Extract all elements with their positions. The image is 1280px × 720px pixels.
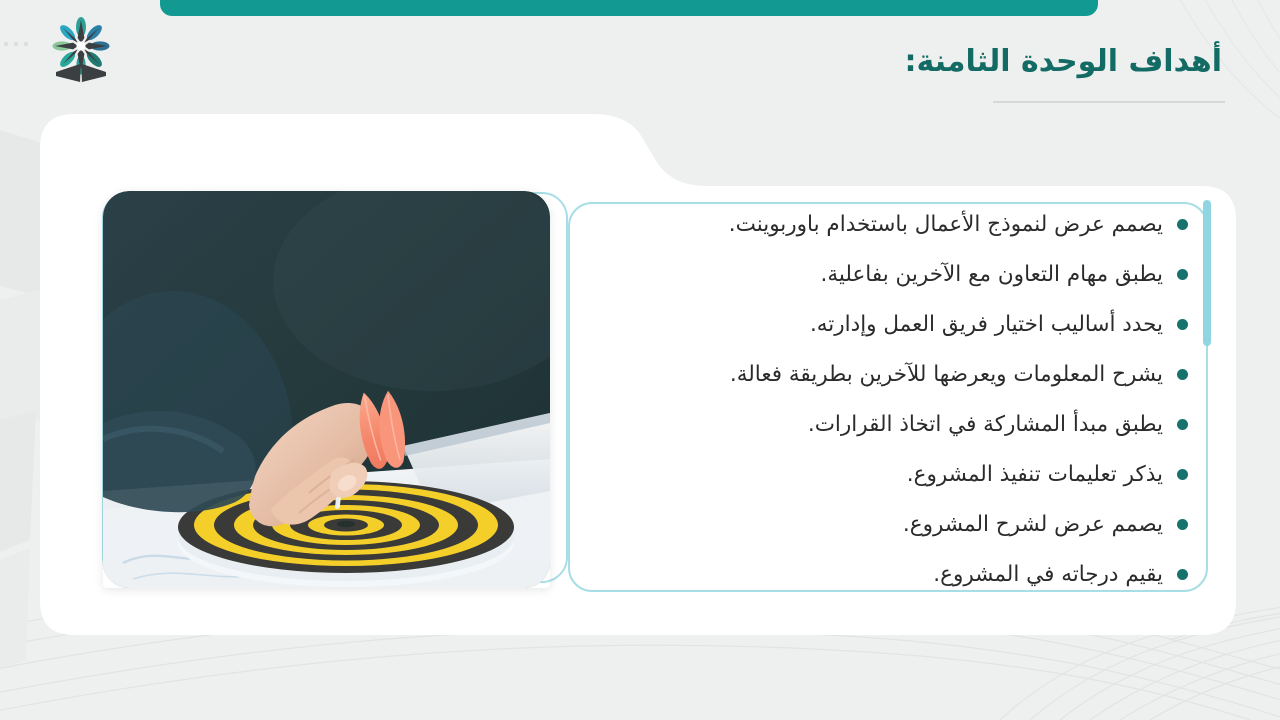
bullet-dot-icon xyxy=(1177,369,1188,380)
objective-text: يطبق مبدأ المشاركة في اتخاذ القرارات. xyxy=(808,409,1163,440)
tvtc-logo xyxy=(44,16,118,88)
list-item: يصمم عرض لشرح المشروع. xyxy=(588,508,1188,541)
list-item: يقيم درجاته في المشروع. xyxy=(588,558,1188,591)
title-divider xyxy=(993,101,1225,103)
accent-vertical-line xyxy=(1203,200,1211,346)
dartboard-photo xyxy=(103,191,550,588)
list-item: يشرح المعلومات ويعرضها للآخرين بطريقة فع… xyxy=(588,358,1188,391)
bullet-dot-icon xyxy=(1177,319,1188,330)
objective-text: يشرح المعلومات ويعرضها للآخرين بطريقة فع… xyxy=(730,359,1163,390)
list-item: يطبق مهام التعاون مع الآخرين بفاعلية. xyxy=(588,258,1188,291)
bullet-dot-icon xyxy=(1177,269,1188,280)
top-accent-bar xyxy=(160,0,1098,16)
objective-text: يحدد أساليب اختيار فريق العمل وإدارته. xyxy=(810,309,1163,340)
list-item: يصمم عرض لنموذج الأعمال باستخدام باوربوي… xyxy=(588,208,1188,241)
bullet-dot-icon xyxy=(1177,569,1188,580)
objective-text: يصمم عرض لنموذج الأعمال باستخدام باوربوي… xyxy=(729,209,1163,240)
objective-text: يذكر تعليمات تنفيذ المشروع. xyxy=(907,459,1163,490)
bullet-dot-icon xyxy=(1177,219,1188,230)
objectives-list: يصمم عرض لنموذج الأعمال باستخدام باوربوي… xyxy=(588,208,1188,608)
objective-text: يقيم درجاته في المشروع. xyxy=(933,559,1163,590)
bullet-dot-icon xyxy=(1177,419,1188,430)
objective-text: يصمم عرض لشرح المشروع. xyxy=(903,509,1163,540)
page-title: أهداف الوحدة الثامنة: xyxy=(904,44,1222,79)
bullet-dot-icon xyxy=(1177,519,1188,530)
objective-text: يطبق مهام التعاون مع الآخرين بفاعلية. xyxy=(820,259,1163,290)
list-item: يحدد أساليب اختيار فريق العمل وإدارته. xyxy=(588,308,1188,341)
list-item: يطبق مبدأ المشاركة في اتخاذ القرارات. xyxy=(588,408,1188,441)
list-item: يذكر تعليمات تنفيذ المشروع. xyxy=(588,458,1188,491)
bullet-dot-icon xyxy=(1177,469,1188,480)
